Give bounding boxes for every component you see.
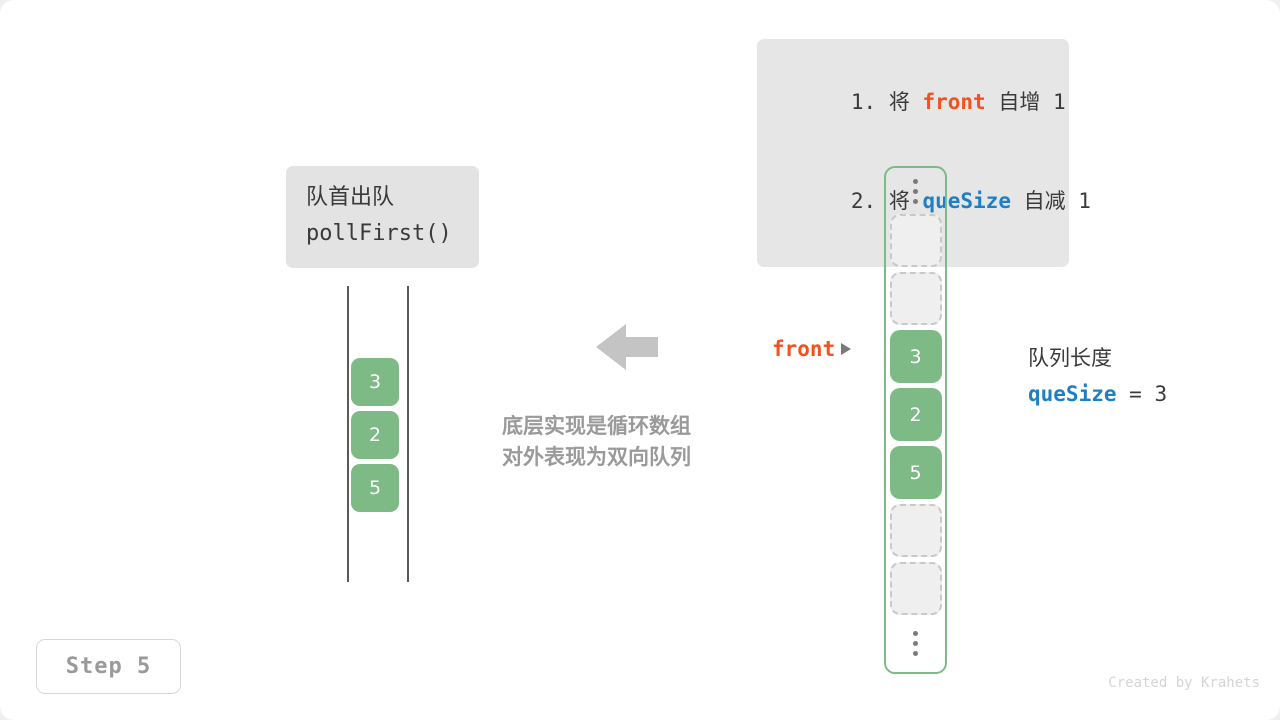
circular-array-container: 3 2 5 <box>884 166 947 674</box>
deque-rail-right <box>407 286 409 582</box>
instruction-2-value: 1 <box>1078 189 1091 213</box>
operation-label-box: 队首出队 pollFirst() <box>286 166 479 268</box>
instruction-1-keyword: front <box>922 90 985 114</box>
instruction-2-index: 2. <box>851 189 876 213</box>
diagram-canvas: 1. 将 front 自增 1 2. 将 queSize 自减 1 队首出队 p… <box>0 0 1280 720</box>
quesize-label: 队列长度 queSize = 3 <box>1028 340 1248 412</box>
instruction-line-1: 1. 将 front 自增 1 <box>757 53 1069 152</box>
left-cell: 5 <box>351 464 399 512</box>
operation-method: pollFirst() <box>286 216 479 252</box>
quesize-equals: = <box>1117 382 1155 406</box>
center-note: 底层实现是循环数组 对外表现为双向队列 <box>502 411 752 473</box>
left-cell: 3 <box>351 358 399 406</box>
array-slot-filled: 2 <box>890 388 942 441</box>
center-note-line-2: 对外表现为双向队列 <box>502 442 752 473</box>
left-deque-cells: 3 2 5 <box>351 358 399 512</box>
left-deque: 3 2 5 <box>340 286 420 582</box>
left-cell: 2 <box>351 411 399 459</box>
instruction-1-prefix: 将 <box>889 90 910 114</box>
instruction-1-suffix: 自增 <box>998 90 1040 114</box>
array-slot-filled: 3 <box>890 330 942 383</box>
step-badge-text: Step 5 <box>66 654 151 679</box>
array-slot-filled: 5 <box>890 446 942 499</box>
front-arrowhead-icon <box>841 343 851 355</box>
quesize-title: 队列长度 <box>1028 340 1248 376</box>
instruction-2-suffix: 自减 <box>1024 189 1066 213</box>
operation-title: 队首出队 <box>286 180 479 216</box>
quesize-expression: queSize = 3 <box>1028 376 1248 412</box>
center-note-line-1: 底层实现是循环数组 <box>502 411 752 442</box>
instruction-1-value: 1 <box>1053 90 1066 114</box>
front-pointer: front <box>772 337 851 361</box>
array-slot-empty <box>890 272 942 325</box>
vertical-ellipsis-bottom-icon <box>913 620 918 666</box>
vertical-ellipsis-top-icon <box>913 168 918 214</box>
quesize-value: 3 <box>1154 382 1167 406</box>
instruction-1-index: 1. <box>851 90 876 114</box>
array-slot-empty <box>890 504 942 557</box>
array-slot-empty <box>890 562 942 615</box>
deque-rail-left <box>347 286 349 582</box>
array-slot-empty <box>890 214 942 267</box>
left-arrow-icon <box>596 322 658 372</box>
watermark: Created by Krahets <box>1108 675 1260 691</box>
step-badge: Step 5 <box>36 639 181 694</box>
quesize-variable: queSize <box>1028 382 1117 406</box>
front-pointer-label: front <box>772 337 835 361</box>
